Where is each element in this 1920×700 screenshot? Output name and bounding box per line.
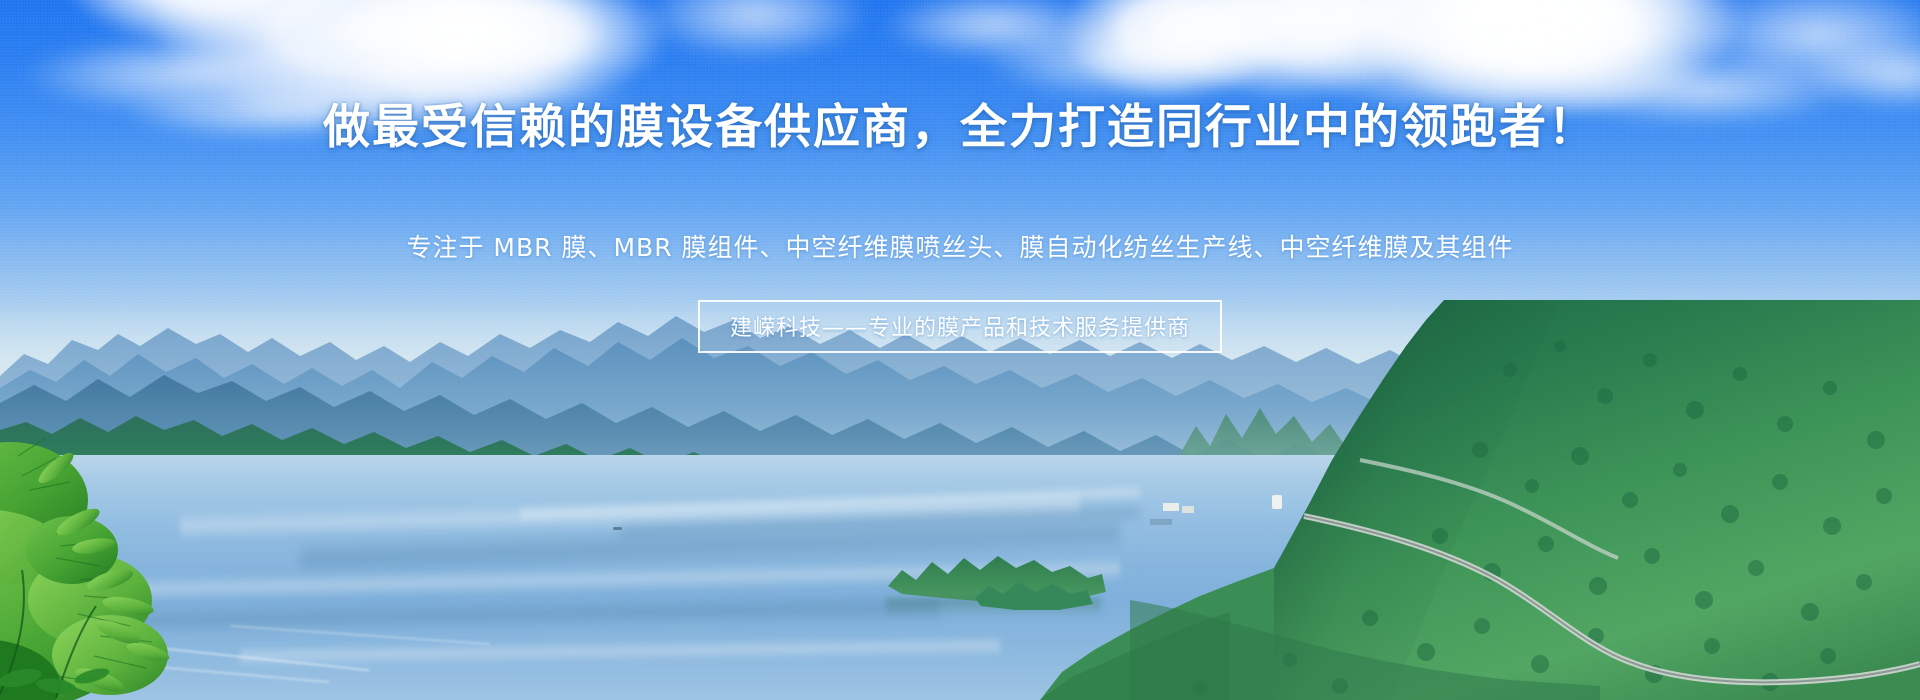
hero-banner: 做最受信赖的膜设备供应商，全力打造同行业中的领跑者！ 专注于 MBR 膜、MBR…	[0, 0, 1920, 700]
sky-texture-overlay	[0, 0, 1920, 430]
lake-water	[0, 455, 1920, 700]
banner-subheadline: 专注于 MBR 膜、MBR 膜组件、中空纤维膜喷丝头、膜自动化纺丝生产线、中空纤…	[0, 228, 1920, 264]
banner-tagline: 建嵘科技——专业的膜产品和技术服务提供商	[698, 300, 1222, 353]
banner-headline: 做最受信赖的膜设备供应商，全力打造同行业中的领跑者！	[0, 104, 1920, 151]
